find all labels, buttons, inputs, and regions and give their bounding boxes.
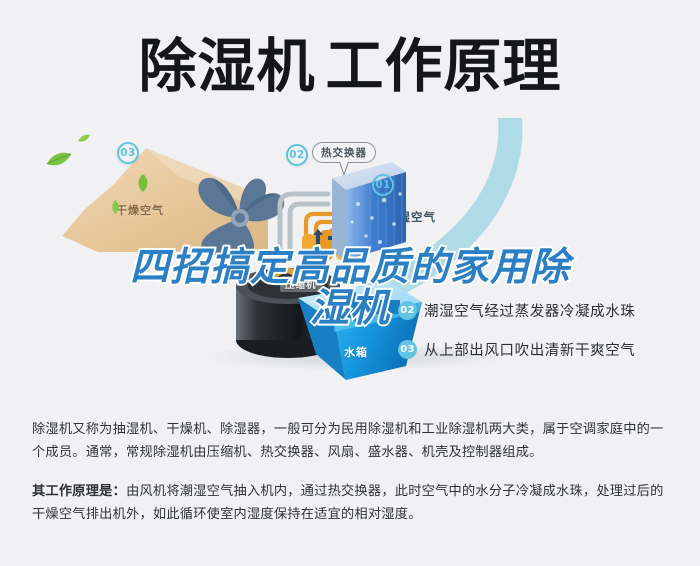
paragraph-2-lead: 其工作原理是： [32,484,126,499]
page-title-part1: 除湿机 [138,32,315,100]
infographic-page: 除湿机工作原理 [0,0,700,566]
heat-exchanger-callout: 热交换器 [312,142,376,163]
heat-exchanger-icon [316,160,408,268]
marker-02: 02 [286,144,308,166]
paragraph-2-rest: 由风机将潮湿空气抽入机内，通过热交换器，此时空气中的水分子冷凝成水珠，处理过后的… [32,484,664,522]
air-inlet-arrow-icon [330,292,400,326]
legend-label-02: 潮湿空气经过蒸发器冷凝成水珠 [424,300,635,321]
compressor-label: 压缩机 [280,276,322,292]
legend-list: 02 潮湿空气经过蒸发器冷凝成水珠 03 从上部出风口吹出清新干爽空气 [398,300,688,378]
marker-03: 03 [117,142,139,164]
dry-air-label: 干燥空气 [116,202,164,218]
paragraph-2: 其工作原理是：由风机将潮湿空气抽入机内，通过热交换器，此时空气中的水分子冷凝成水… [32,480,672,526]
legend-badge-02: 02 [398,301,417,320]
leaf-icon [78,134,90,143]
leaf-icon [110,200,121,214]
legend-badge-03: 03 [398,340,417,359]
body-copy: 除湿机又称为抽湿机、干燥机、除湿器，一般可分为民用除湿机和工业除湿机两大类，属于… [32,418,672,526]
leaf-icon [136,174,150,192]
legend-label-03: 从上部出风口吹出清新干爽空气 [424,339,635,360]
water-tank-label: 水箱 [344,344,368,360]
page-title-part2: 工作原理 [326,32,562,100]
page-title: 除湿机工作原理 [0,26,700,106]
marker-01: 01 [372,174,394,196]
legend-item: 03 从上部出风口吹出清新干爽空气 [398,339,688,360]
leaf-icon [46,152,72,168]
legend-item: 02 潮湿空气经过蒸发器冷凝成水珠 [398,300,688,321]
paragraph-1: 除湿机又称为抽湿机、干燥机、除湿器，一般可分为民用除湿机和工业除湿机两大类，属于… [32,418,672,464]
